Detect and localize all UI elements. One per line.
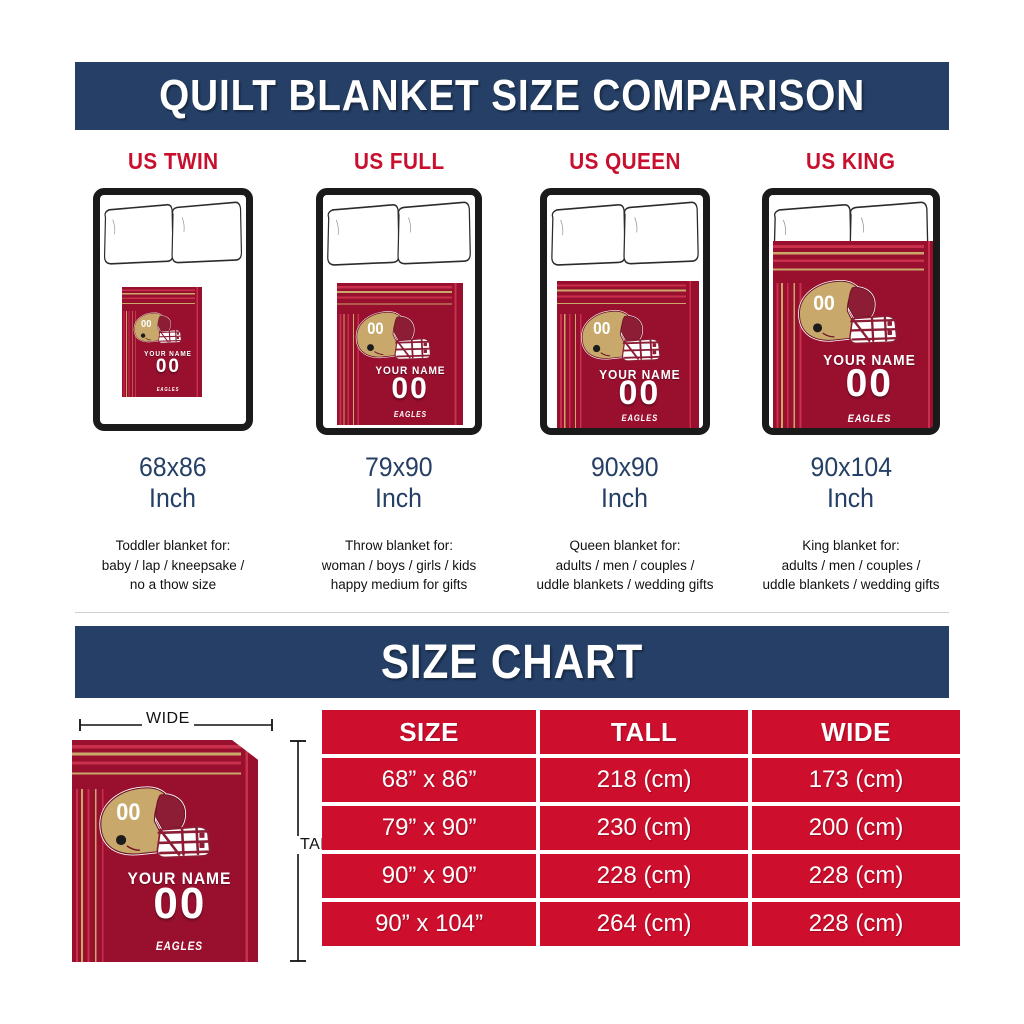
section-divider bbox=[75, 612, 949, 613]
bed-surface: 00 YOUR NAME 00 EAGLES bbox=[100, 195, 246, 424]
bed-illustration-wrap: 00 YOUR NAME 00 EAGLES bbox=[762, 182, 940, 444]
blanket-dimension-diagram: WIDE TALL bbox=[60, 706, 310, 968]
bed-illustration-wrap: 00 YOUR NAME 00 EAGLES bbox=[93, 182, 253, 444]
size-name-label: US QUEEN bbox=[569, 148, 681, 182]
blanket-team-text: EAGLES bbox=[141, 387, 195, 393]
dimension-value: 90x104 bbox=[810, 452, 892, 483]
dimension-unit: Inch bbox=[150, 483, 197, 514]
table-header-row: SIZE TALL WIDE bbox=[322, 710, 960, 754]
dimension-unit: Inch bbox=[602, 483, 649, 514]
table-row: 90” x 90”228 (cm)228 (cm) bbox=[322, 854, 960, 898]
top-banner-title: QUILT BLANKET SIZE COMPARISON bbox=[159, 71, 865, 121]
column-header-size: SIZE bbox=[322, 710, 536, 754]
size-chart-table: SIZE TALL WIDE 68” x 86”218 (cm)173 (cm)… bbox=[318, 706, 964, 950]
football-helmet-icon: 00 bbox=[79, 776, 224, 869]
table-row: 68” x 86”218 (cm)173 (cm) bbox=[322, 758, 960, 802]
size-chart-area: WIDE TALL bbox=[60, 706, 964, 971]
blanket-number-text: 00 bbox=[803, 364, 933, 403]
cell-wide: 228 (cm) bbox=[752, 902, 960, 946]
usage-description: Throw blanket for: woman / boys / girls … bbox=[322, 536, 477, 595]
svg-text:00: 00 bbox=[117, 797, 141, 824]
size-column-us-king: US KING bbox=[738, 148, 964, 608]
cell-tall: 218 (cm) bbox=[540, 758, 748, 802]
blanket-number-text: 00 bbox=[583, 376, 697, 410]
football-helmet-icon: 00 bbox=[780, 272, 909, 353]
helmet-graphic: 00 bbox=[780, 272, 909, 353]
table-row: 79” x 90”230 (cm)200 (cm) bbox=[322, 806, 960, 850]
blanket-preview-large: 00 YOUR NAME 00 EAGLES bbox=[72, 740, 258, 962]
blanket-team-text: EAGLES bbox=[813, 413, 926, 425]
blanket-right-border bbox=[195, 287, 202, 397]
blanket-preview: 00 YOUR NAME 00 EAGLES bbox=[337, 283, 463, 425]
svg-text:00: 00 bbox=[141, 318, 152, 330]
table-row: 90” x 104”264 (cm)228 (cm) bbox=[322, 902, 960, 946]
bed-frame: 00 YOUR NAME 00 EAGLES bbox=[93, 188, 253, 431]
bed-frame: 00 YOUR NAME 00 EAGLES bbox=[762, 188, 940, 435]
svg-text:00: 00 bbox=[813, 292, 835, 315]
pillows-icon bbox=[100, 200, 246, 269]
bed-surface: 00 YOUR NAME 00 EAGLES bbox=[769, 195, 933, 428]
top-banner: QUILT BLANKET SIZE COMPARISON bbox=[75, 62, 949, 130]
football-helmet-icon: 00 bbox=[563, 305, 674, 367]
blanket-preview: 00 YOUR NAME 00 EAGLES bbox=[122, 287, 202, 397]
size-name-label: US TWIN bbox=[128, 148, 219, 182]
column-header-wide: WIDE bbox=[752, 710, 960, 754]
cell-tall: 264 (cm) bbox=[540, 902, 748, 946]
blanket-number-text: 00 bbox=[105, 882, 254, 926]
column-header-tall: TALL bbox=[540, 710, 748, 754]
size-name-label: US KING bbox=[806, 148, 895, 182]
size-comparison-row: US TWIN bbox=[60, 148, 964, 608]
bed-surface: 00 YOUR NAME 00 EAGLES bbox=[323, 195, 475, 428]
size-column-us-full: US FULL bbox=[286, 148, 512, 608]
blanket-preview: 00 YOUR NAME 00 EAGLES bbox=[773, 241, 933, 428]
size-column-us-twin: US TWIN bbox=[60, 148, 286, 608]
size-column-us-queen: US QUEEN bbox=[512, 148, 738, 608]
wide-label: WIDE bbox=[142, 710, 194, 728]
dimension-value: 68x86 bbox=[139, 452, 207, 483]
football-helmet-icon: 00 bbox=[125, 305, 187, 351]
cell-wide: 173 (cm) bbox=[752, 758, 960, 802]
usage-description: Toddler blanket for: baby / lap / kneeps… bbox=[102, 536, 245, 595]
dimension-unit: Inch bbox=[376, 483, 423, 514]
blanket-right-border bbox=[241, 740, 258, 962]
helmet-graphic: 00 bbox=[79, 776, 224, 869]
cell-size: 90” x 90” bbox=[322, 854, 536, 898]
size-name-label: US FULL bbox=[354, 148, 445, 182]
bed-surface: 00 YOUR NAME 00 EAGLES bbox=[547, 195, 703, 428]
helmet-graphic: 00 bbox=[342, 306, 440, 366]
pillows-icon bbox=[547, 200, 703, 270]
dimension-unit: Inch bbox=[828, 483, 875, 514]
size-chart-title: SIZE CHART bbox=[381, 635, 643, 690]
bed-frame: 00 YOUR NAME 00 EAGLES bbox=[540, 188, 710, 435]
blanket-team-text: EAGLES bbox=[367, 410, 453, 419]
dimension-value: 79x90 bbox=[365, 452, 433, 483]
cell-tall: 228 (cm) bbox=[540, 854, 748, 898]
bed-illustration-wrap: 00 YOUR NAME 00 EAGLES bbox=[540, 182, 710, 444]
cell-wide: 200 (cm) bbox=[752, 806, 960, 850]
cell-tall: 230 (cm) bbox=[540, 806, 748, 850]
size-chart-banner: SIZE CHART bbox=[75, 626, 949, 698]
dimension-value: 90x90 bbox=[591, 452, 659, 483]
cell-wide: 228 (cm) bbox=[752, 854, 960, 898]
svg-text:00: 00 bbox=[367, 320, 383, 338]
cell-size: 90” x 104” bbox=[322, 902, 536, 946]
pillows-icon bbox=[323, 200, 475, 270]
blanket-team-text: EAGLES bbox=[117, 939, 243, 953]
bed-frame: 00 YOUR NAME 00 EAGLES bbox=[316, 188, 482, 435]
helmet-graphic: 00 bbox=[125, 305, 187, 351]
blanket-number-text: 00 bbox=[136, 357, 200, 376]
bed-illustration-wrap: 00 YOUR NAME 00 EAGLES bbox=[316, 182, 482, 444]
blanket-number-text: 00 bbox=[360, 374, 461, 404]
football-helmet-icon: 00 bbox=[342, 306, 440, 366]
usage-description: Queen blanket for: adults / men / couple… bbox=[536, 536, 713, 595]
cell-size: 68” x 86” bbox=[322, 758, 536, 802]
usage-description: King blanket for: adults / men / couples… bbox=[762, 536, 939, 595]
cell-size: 79” x 90” bbox=[322, 806, 536, 850]
helmet-graphic: 00 bbox=[563, 305, 674, 367]
blanket-team-text: EAGLES bbox=[591, 413, 688, 423]
svg-text:00: 00 bbox=[593, 319, 610, 338]
size-guide-page: QUILT BLANKET SIZE COMPARISON US TWIN bbox=[0, 0, 1024, 1024]
blanket-preview: 00 YOUR NAME 00 EAGLES bbox=[557, 281, 699, 428]
